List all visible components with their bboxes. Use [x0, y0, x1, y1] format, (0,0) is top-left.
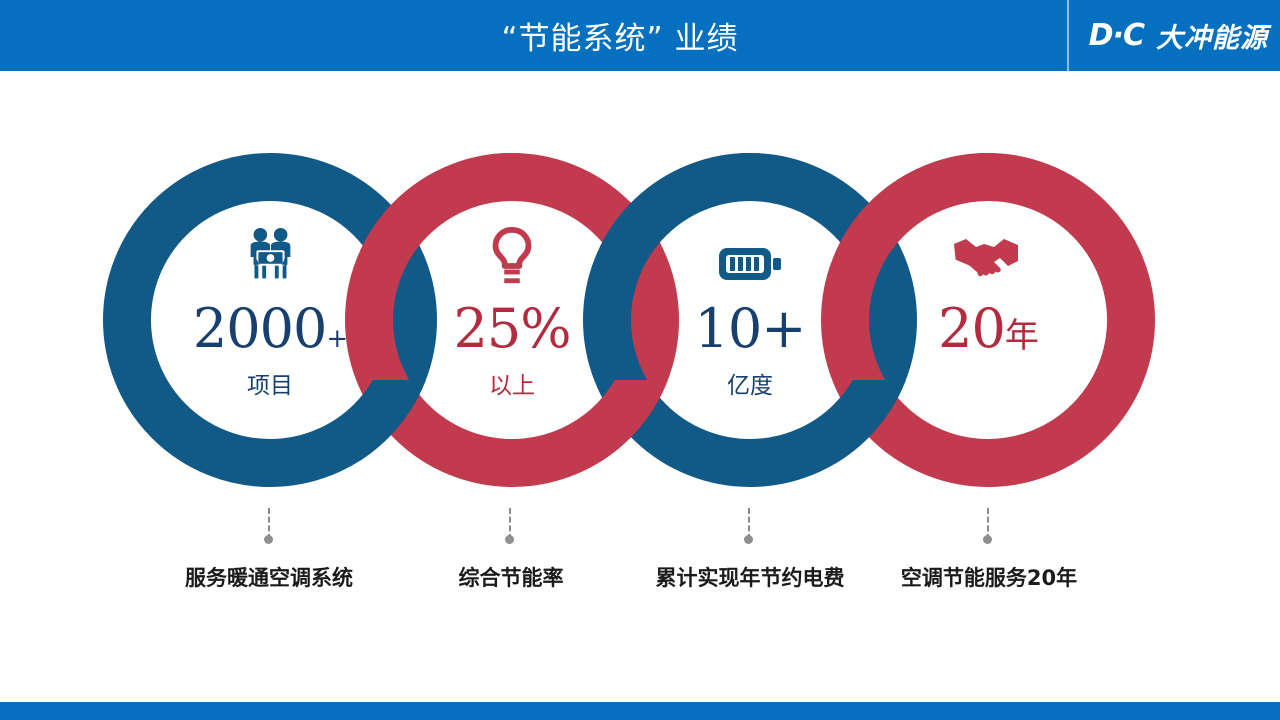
caption-3: 累计实现年节约电费 — [620, 562, 880, 592]
handshake-icon — [873, 218, 1103, 288]
stat-value-3-number: 10+ — [695, 297, 806, 360]
stat-value-2: 25% — [397, 302, 627, 356]
stat-sublabel-3: 亿度 — [635, 366, 865, 400]
connector-dot-4 — [983, 535, 992, 544]
stat-value-4-suffix: 年 — [1005, 316, 1038, 356]
caption-1: 服务暖通空调系统 — [139, 562, 399, 592]
stat-value-1-number: 2000 — [193, 297, 326, 360]
stat-card-2: 25% 以上 — [397, 218, 627, 400]
stat-value-3: 10+ — [635, 302, 865, 356]
stat-value-1: 2000+ — [155, 302, 385, 356]
lightbulb-icon — [397, 218, 627, 288]
stat-value-1-suffix: + — [326, 324, 347, 354]
stat-sublabel-2: 以上 — [397, 366, 627, 400]
stat-value-4-number: 20 — [938, 297, 1005, 360]
battery-icon — [635, 218, 865, 288]
stat-card-1: 2000+ 项目 — [155, 218, 385, 400]
stat-value-4: 20年 — [873, 302, 1103, 356]
connector-dot-3 — [744, 535, 753, 544]
footer-bar — [0, 702, 1280, 720]
stat-card-4: 20年 — [873, 218, 1103, 366]
stat-card-3: 10+ 亿度 — [635, 218, 865, 400]
infographic-stage: 2000+ 项目 25% 以上 — [0, 0, 1280, 720]
stat-value-2-number: 25% — [453, 297, 570, 360]
caption-2: 综合节能率 — [381, 562, 641, 592]
stat-sublabel-1: 项目 — [155, 366, 385, 400]
caption-4: 空调节能服务20年 — [859, 562, 1119, 592]
connector-dot-1 — [264, 535, 273, 544]
connector-dot-2 — [505, 535, 514, 544]
two-people-icon — [155, 218, 385, 288]
